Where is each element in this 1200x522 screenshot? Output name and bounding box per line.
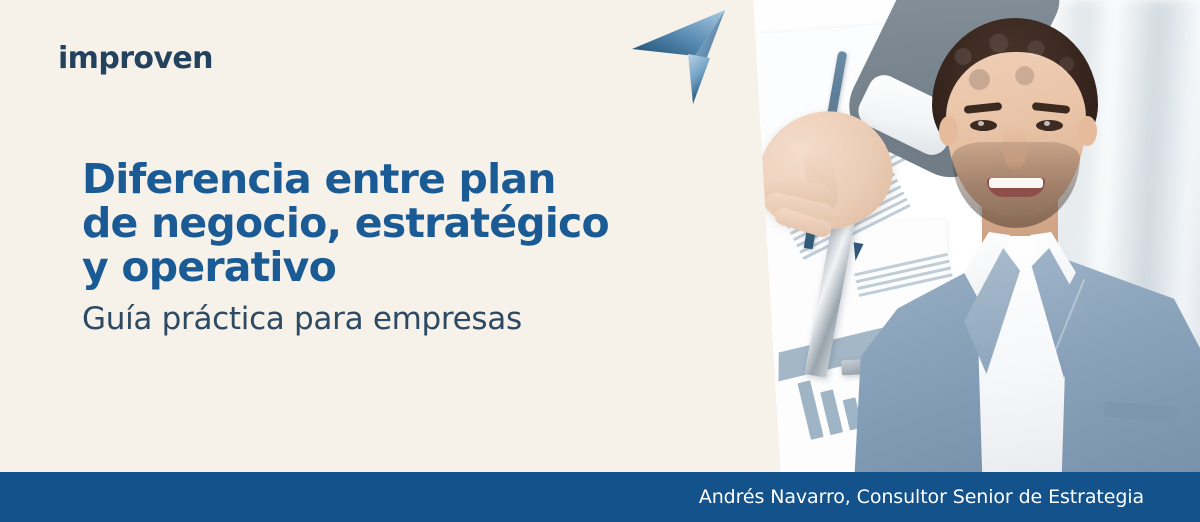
improven-logo[interactable]: improven	[58, 44, 213, 74]
person-eye-highlight-left	[978, 121, 984, 126]
person-teeth	[989, 178, 1043, 188]
headline-block: Diferencia entre plan de negocio, estrat…	[82, 158, 622, 337]
byline-bar: Andrés Navarro, Consultor Senior de Estr…	[0, 472, 1200, 522]
article-hero-banner: improven Diferencia entre plan de negoci…	[0, 0, 1200, 522]
improven-arrow-mark-icon	[628, 4, 736, 108]
person-nose	[1003, 128, 1027, 170]
person-eye-highlight-right	[1044, 121, 1050, 126]
page-title: Diferencia entre plan de negocio, estrat…	[82, 158, 622, 290]
person-smile	[987, 178, 1045, 197]
author-byline: Andrés Navarro, Consultor Senior de Estr…	[699, 486, 1200, 508]
person-ear-left	[939, 116, 958, 146]
person-hair-texture	[934, 20, 1096, 116]
person-ear-right	[1078, 116, 1097, 146]
person-portrait	[860, 0, 1200, 480]
page-subtitle: Guía práctica para empresas	[82, 302, 622, 338]
